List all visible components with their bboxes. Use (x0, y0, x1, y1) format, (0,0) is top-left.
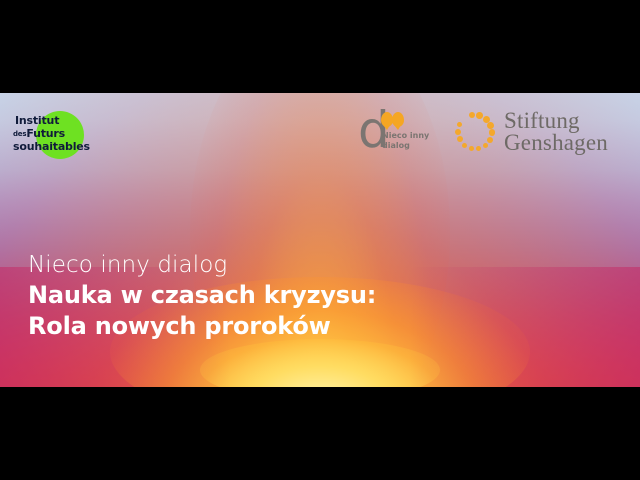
logo-nieco-inny-dialog: d Nieco inny dialog (358, 107, 436, 157)
title-line-1: Nauka w czasach kryzysu: (28, 280, 458, 311)
kicker-series-name: Nieco inny dialog (28, 250, 458, 280)
headline-block: Nieco inny dialog Nauka w czasach kryzys… (28, 250, 458, 342)
title-card: + Institut desFuturs souhaitables d Niec… (0, 0, 640, 480)
ifs-line-1: Institut (15, 114, 59, 127)
nid-line-2: dialog (382, 141, 410, 150)
title-line-2: Rola nowych proroków (28, 311, 458, 342)
nid-line-1: Nieco inny (382, 131, 429, 140)
ifs-line-2-main: Futurs (26, 127, 65, 140)
logo-institut-des-futurs-souhaitables: + Institut desFuturs souhaitables (13, 110, 105, 162)
logo-row: + Institut desFuturs souhaitables d Niec… (0, 93, 640, 168)
genshagen-line-2: Genshagen (504, 130, 608, 156)
genshagen-dot-ring-icon (452, 109, 498, 155)
video-frame: + Institut desFuturs souhaitables d Niec… (0, 93, 640, 387)
ifs-line-2: desFuturs (13, 127, 65, 140)
logo-stiftung-genshagen: Stiftung Genshagen (452, 106, 627, 158)
ifs-plus-icon: + (70, 118, 82, 130)
ifs-line-3: souhaitables (13, 140, 90, 153)
ifs-line-2-prefix: des (13, 130, 26, 138)
speech-bubble-icon-2 (392, 112, 404, 127)
background-glow-hot (200, 339, 440, 387)
